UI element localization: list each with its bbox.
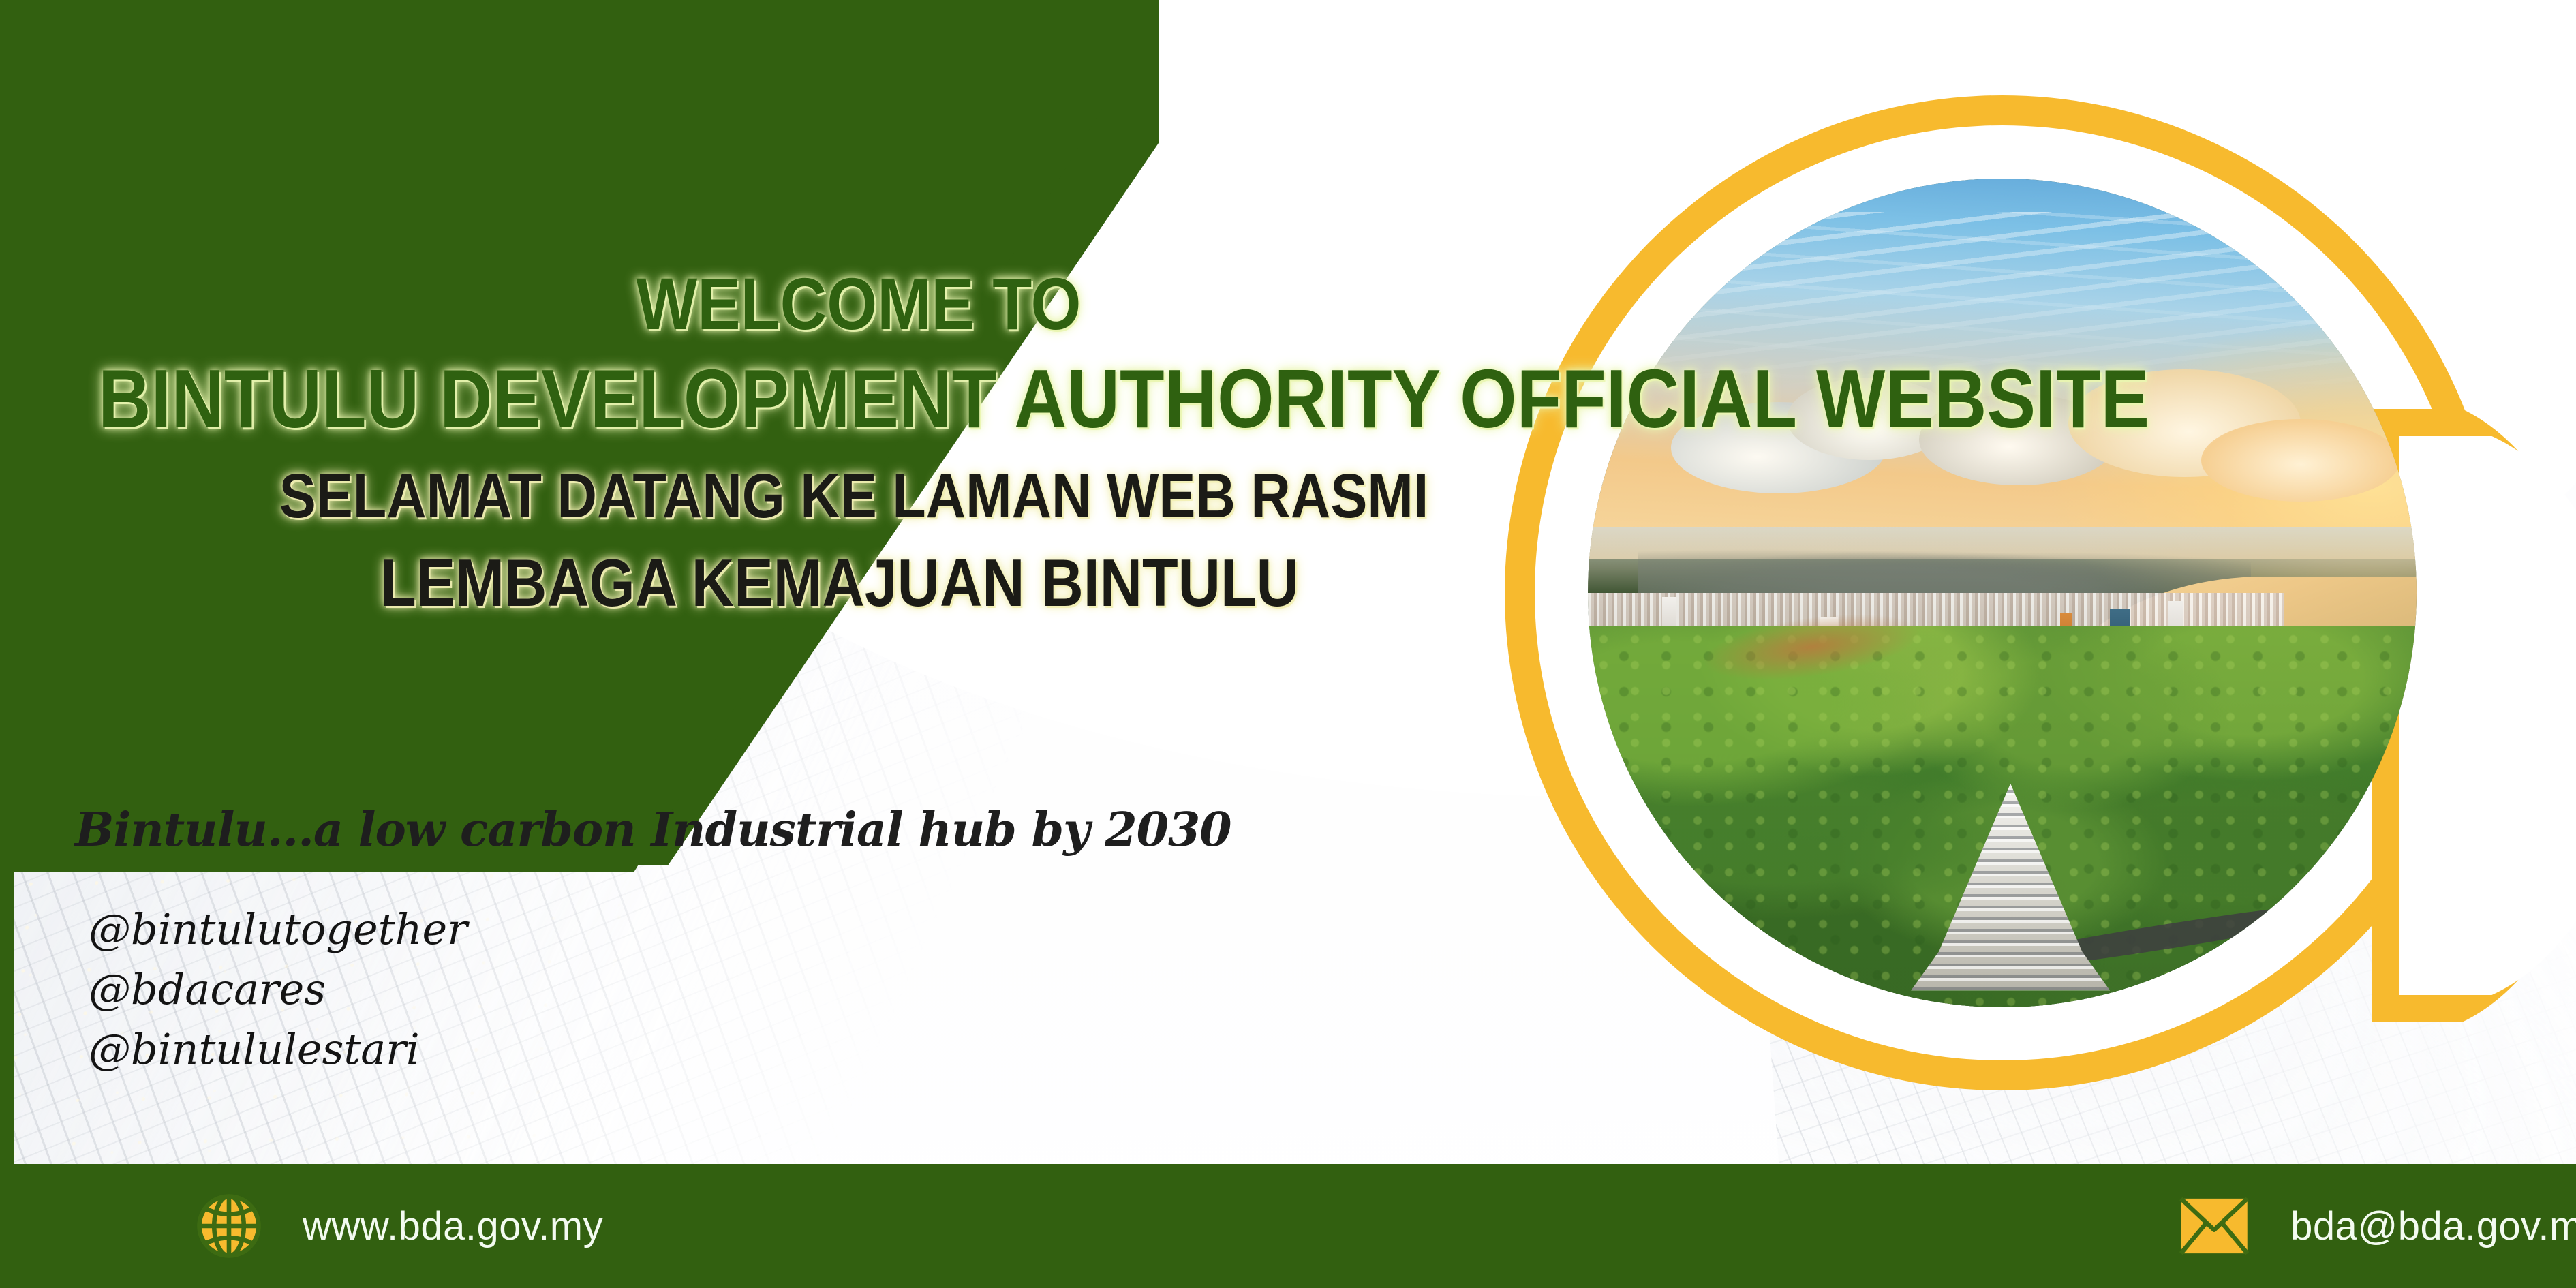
photo-cloud [2201, 419, 2400, 502]
headline-lembaga: LEMBAGA KEMAJUAN BINTULU [139, 549, 1540, 616]
footer-email-link[interactable]: bda@bda.gov.my [2179, 1197, 2576, 1255]
headline-welcome: WELCOME TO [175, 267, 1542, 341]
gold-ring-tail-cut [2399, 436, 2576, 995]
headline-authority: BINTULU DEVELOPMENT AUTHORITY OFFICIAL W… [98, 357, 1537, 440]
globe-icon [196, 1193, 262, 1259]
social-handles-list: @bintulutogether @bdacares @bintululesta… [89, 900, 467, 1079]
website-url-text: www.bda.gov.my [303, 1203, 603, 1249]
headline-block: WELCOME TO BINTULU DEVELOPMENT AUTHORITY… [0, 267, 1636, 616]
social-handle-item[interactable]: @bdacares [89, 960, 467, 1019]
social-handle-item[interactable]: @bintulutogether [89, 900, 467, 960]
social-handle-item[interactable]: @bintululestari [89, 1019, 467, 1079]
photo-distant-hills [1638, 543, 2251, 593]
vision-tagline: Bintulu...a low carbon Industrial hub by… [75, 803, 1231, 857]
bda-welcome-banner: WELCOME TO BINTULU DEVELOPMENT AUTHORITY… [0, 0, 2576, 1288]
email-address-text: bda@bda.gov.my [2290, 1203, 2576, 1249]
bintulu-aerial-photo [1588, 179, 2417, 1007]
envelope-icon [2179, 1197, 2250, 1255]
headline-selamat: SELAMAT DATANG KE LAMAN WEB RASMI [166, 465, 1542, 527]
footer-contact-bar: www.bda.gov.my bda@bda.gov.my [0, 1164, 2576, 1288]
footer-website-link[interactable]: www.bda.gov.my [196, 1193, 603, 1259]
